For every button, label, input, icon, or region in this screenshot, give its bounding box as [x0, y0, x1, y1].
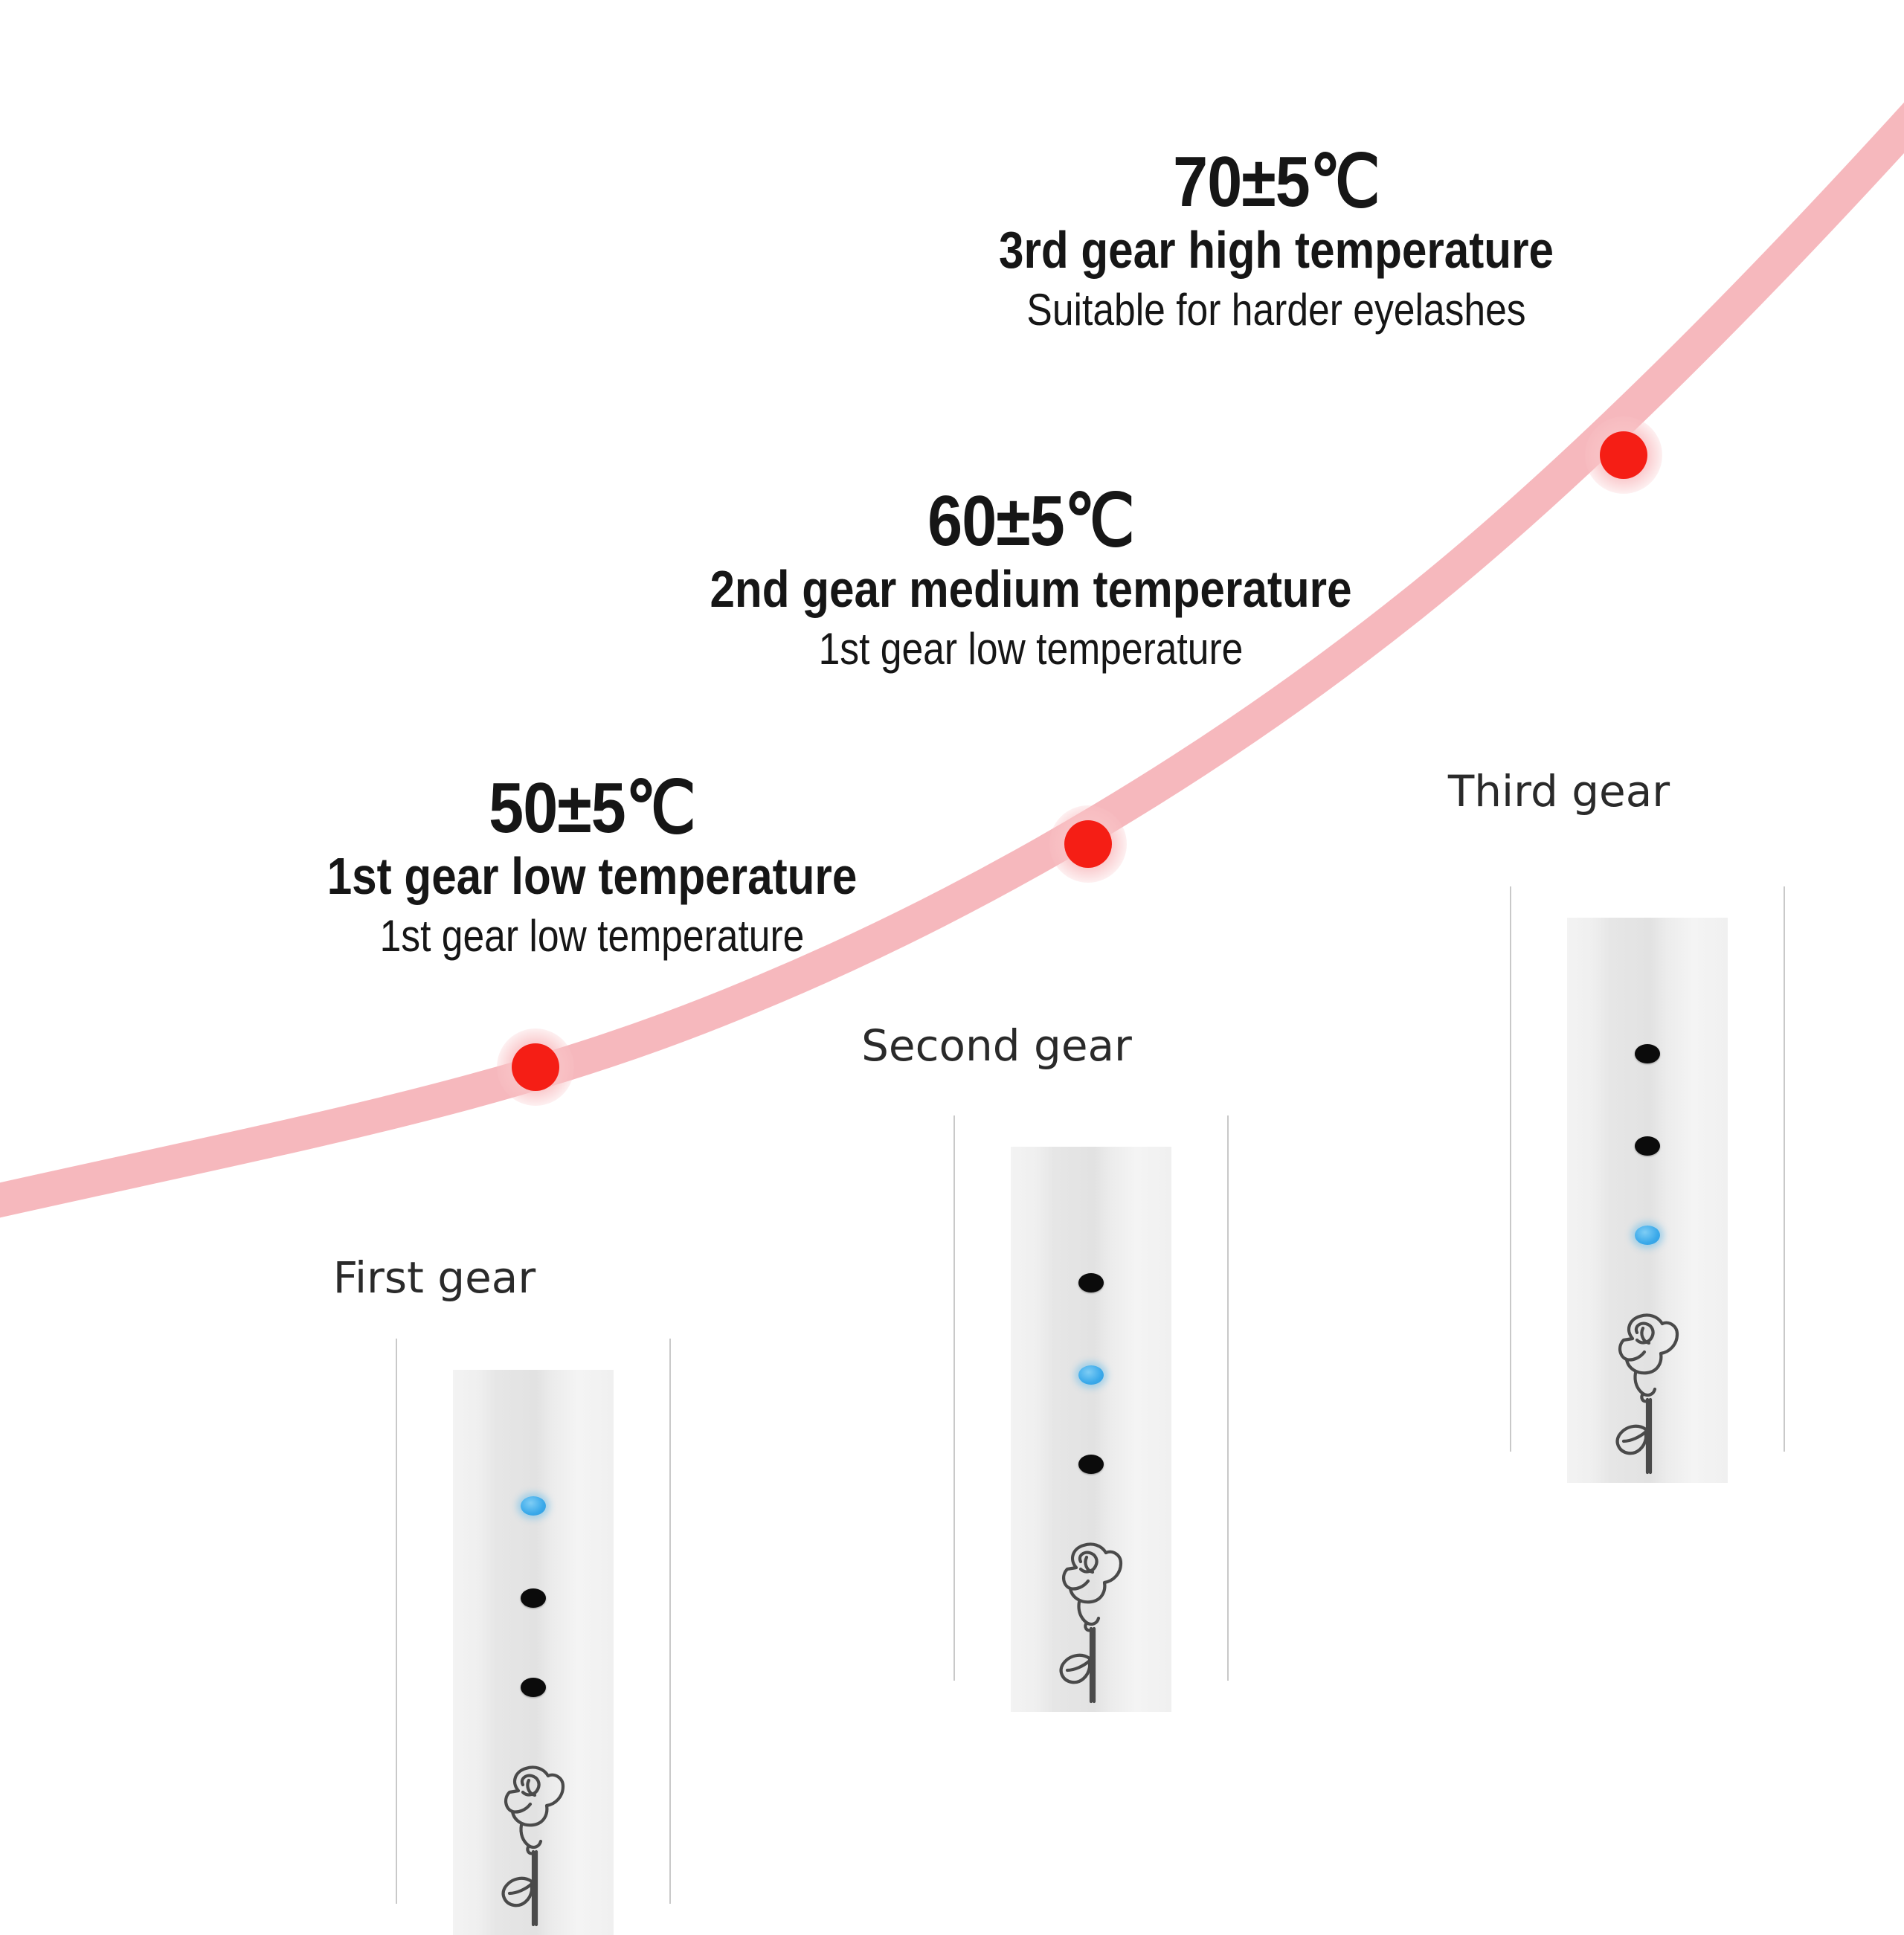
device-first-gear	[396, 1339, 671, 1904]
indicator-dot-3[interactable]	[521, 1678, 546, 1697]
rose-engraving-icon	[489, 1757, 578, 1928]
device-guide-line-left	[396, 1339, 397, 1904]
indicator-dot-3[interactable]	[1078, 1455, 1104, 1474]
device-guide-line-right	[1227, 1115, 1229, 1681]
device-body	[453, 1370, 614, 1935]
callout-gear1-title: 1st gear low temperature	[253, 845, 931, 908]
device-body	[1567, 918, 1728, 1483]
rose-engraving-icon	[1046, 1533, 1136, 1704]
device-label-second: Second gear	[848, 1020, 1145, 1071]
rose-engraving-icon	[1603, 1304, 1692, 1475]
device-second-gear	[953, 1115, 1229, 1681]
indicator-dot-2[interactable]	[521, 1588, 546, 1608]
indicator-dot-1[interactable]	[1635, 1044, 1660, 1063]
callout-gear2-temperature: 60±5℃	[684, 485, 1378, 558]
callout-gear1-temperature: 50±5℃	[245, 772, 939, 845]
callout-gear3-title: 3rd gear high temperature	[937, 219, 1615, 282]
callout-gear2: 60±5℃ 2nd gear medium temperature 1st ge…	[637, 485, 1425, 677]
indicator-dot-3[interactable]	[1635, 1226, 1660, 1245]
callout-gear1-subtitle: 1st gear low temperature	[253, 908, 931, 965]
indicator-dot-1[interactable]	[1078, 1273, 1104, 1292]
callout-gear3-temperature: 70±5℃	[930, 146, 1624, 219]
callout-gear2-subtitle: 1st gear low temperature	[692, 621, 1370, 677]
device-guide-line-right	[669, 1339, 671, 1904]
device-label-third: Third gear	[1410, 766, 1708, 817]
curve-marker-gear1	[497, 1028, 574, 1106]
device-label-first: First gear	[300, 1252, 568, 1303]
device-body	[1011, 1147, 1171, 1712]
device-third-gear	[1510, 886, 1785, 1452]
callout-gear3: 70±5℃ 3rd gear high temperature Suitable…	[882, 146, 1670, 338]
device-guide-line-left	[1510, 886, 1511, 1452]
device-guide-line-right	[1784, 886, 1785, 1452]
indicator-dot-2[interactable]	[1078, 1365, 1104, 1385]
indicator-dot-2[interactable]	[1635, 1136, 1660, 1156]
callout-gear1: 50±5℃ 1st gear low temperature 1st gear …	[198, 772, 986, 965]
callout-gear3-subtitle: Suitable for harder eyelashes	[937, 282, 1615, 338]
curve-marker-gear2	[1049, 805, 1127, 883]
curve-marker-gear3	[1585, 416, 1662, 494]
indicator-dot-1[interactable]	[521, 1496, 546, 1516]
device-guide-line-left	[953, 1115, 955, 1681]
callout-gear2-title: 2nd gear medium temperature	[692, 558, 1370, 621]
infographic-canvas: 70±5℃ 3rd gear high temperature Suitable…	[0, 0, 1904, 1904]
